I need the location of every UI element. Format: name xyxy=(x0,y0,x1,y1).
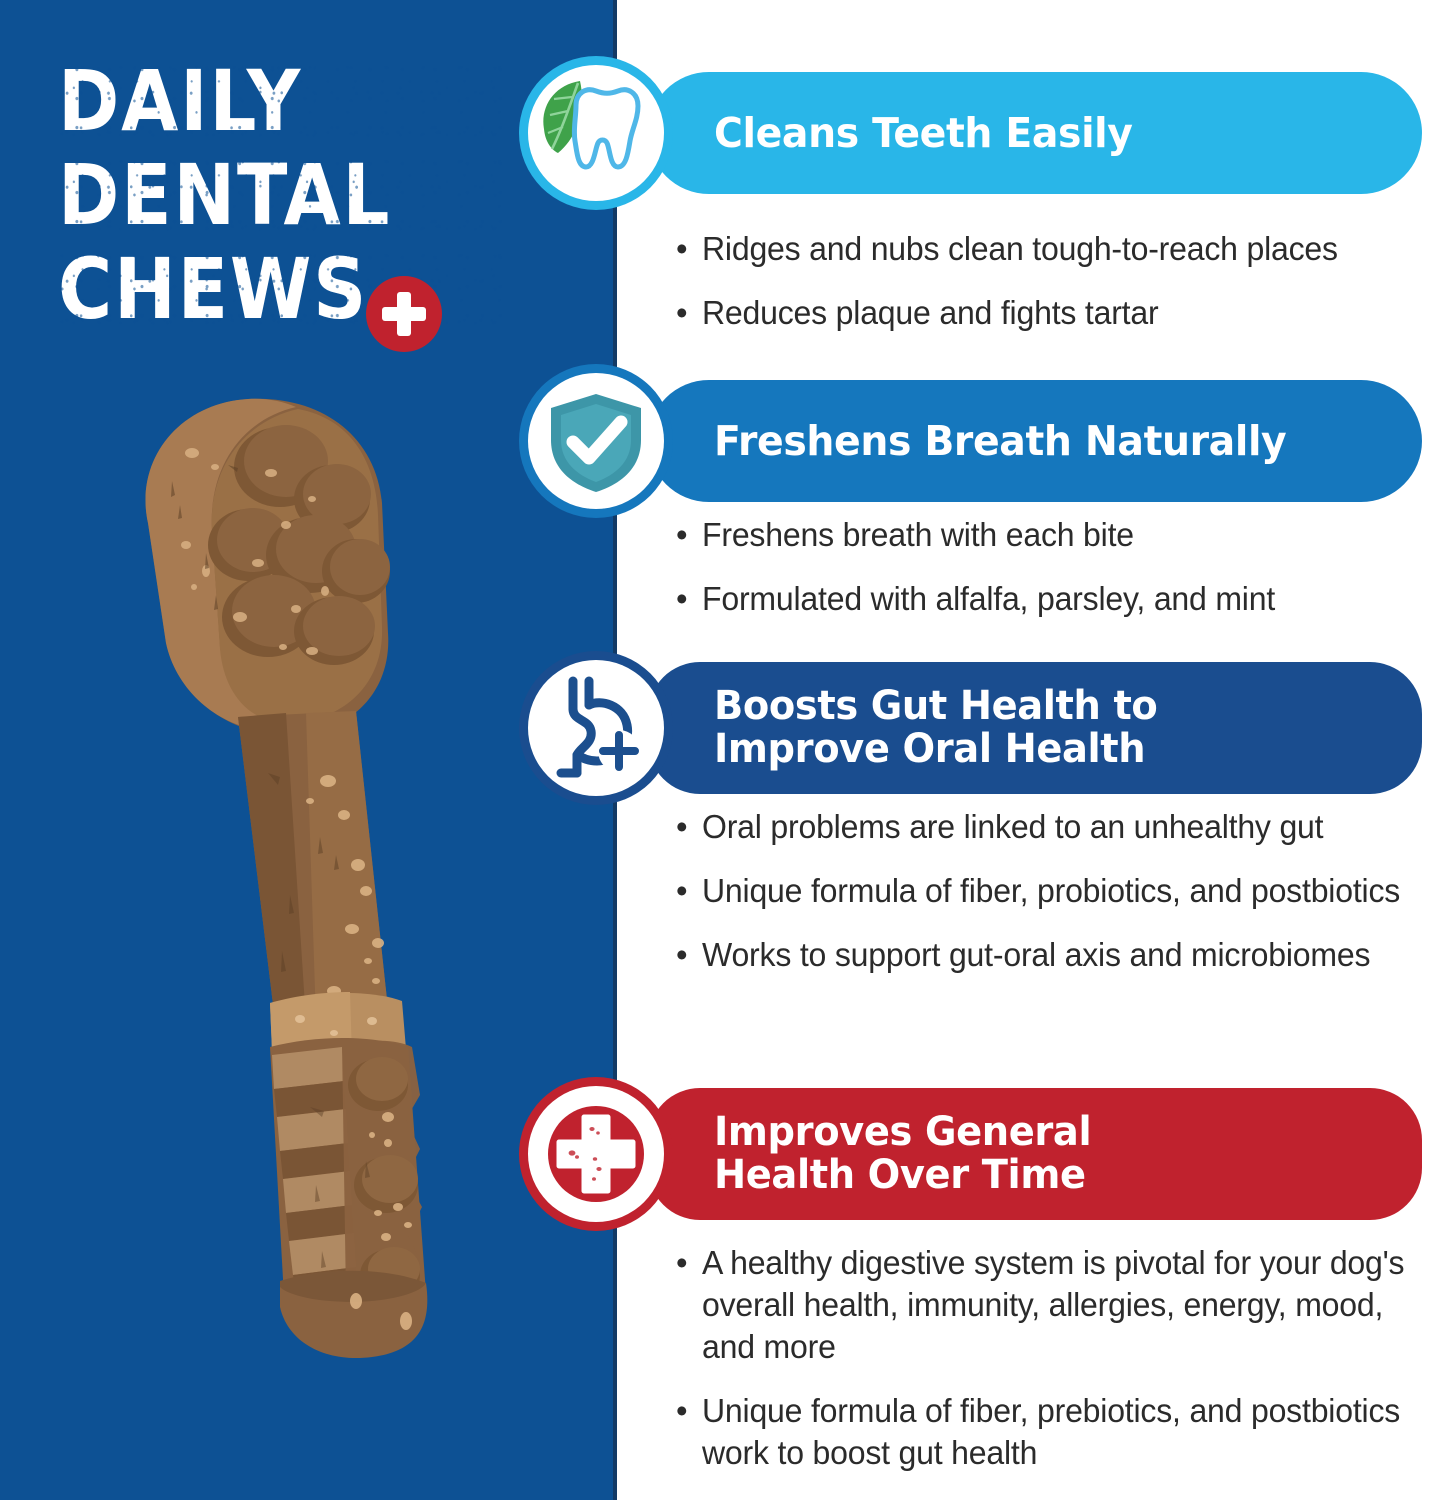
bullet-text: A healthy digestive system is pivotal fo… xyxy=(702,1242,1422,1368)
feature-bullets-gut-health: • Oral problems are linked to an unhealt… xyxy=(676,806,1444,998)
tooth-with-mint-leaf-icon xyxy=(528,65,664,201)
feature-banner-cleans-teeth: Cleans Teeth Easily xyxy=(648,72,1422,194)
feature-banner-general-health: Improves General Health Over Time xyxy=(648,1088,1422,1220)
tooth-icon xyxy=(574,90,638,167)
feature-title-cleans-teeth: Cleans Teeth Easily xyxy=(714,112,1133,155)
bullet-marker: • xyxy=(676,578,702,620)
bullet-marker: • xyxy=(676,514,702,556)
bullet-item: • Oral problems are linked to an unhealt… xyxy=(676,806,1444,848)
bullet-item: • Unique formula of fiber, prebiotics, a… xyxy=(676,1390,1444,1474)
feature-banner-gut-health: Boosts Gut Health to Improve Oral Health xyxy=(648,662,1422,794)
bullet-text: Formulated with alfalfa, parsley, and mi… xyxy=(702,578,1422,620)
bullet-text: Reduces plaque and fights tartar xyxy=(702,292,1422,334)
feature-banner-freshens-breath: Freshens Breath Naturally xyxy=(648,380,1422,502)
bullet-text: Freshens breath with each bite xyxy=(702,514,1422,556)
feature-bullets-general-health: • A healthy digestive system is pivotal … xyxy=(676,1242,1444,1496)
feature-title-gut-health: Boosts Gut Health to Improve Oral Health xyxy=(714,685,1157,771)
bullet-marker: • xyxy=(676,228,702,270)
feature-title-general-health: Improves General Health Over Time xyxy=(714,1111,1091,1197)
bullet-item: • Works to support gut-oral axis and mic… xyxy=(676,934,1444,976)
bullet-marker: • xyxy=(676,1390,702,1474)
feature-title-freshens-breath: Freshens Breath Naturally xyxy=(714,420,1286,463)
bullet-text: Unique formula of fiber, probiotics, and… xyxy=(702,870,1422,912)
feature-bullets-freshens-breath: • Freshens breath with each bite • Formu… xyxy=(676,514,1444,642)
bullet-marker: • xyxy=(676,806,702,848)
features-column: Cleans Teeth Easily xyxy=(0,0,1444,1500)
bullet-marker: • xyxy=(676,1242,702,1368)
infographic-page: DAILY DENTAL CHEWS xyxy=(0,0,1444,1500)
bullet-item: • Unique formula of fiber, probiotics, a… xyxy=(676,870,1444,912)
shield-check-icon xyxy=(528,373,664,509)
bullet-item: • Formulated with alfalfa, parsley, and … xyxy=(676,578,1444,620)
bullet-item: • Freshens breath with each bite xyxy=(676,514,1444,556)
stomach-plus-icon xyxy=(528,660,664,796)
bullet-text: Oral problems are linked to an unhealthy… xyxy=(702,806,1422,848)
bullet-text: Unique formula of fiber, prebiotics, and… xyxy=(702,1390,1422,1474)
bullet-marker: • xyxy=(676,292,702,334)
bullet-item: • A healthy digestive system is pivotal … xyxy=(676,1242,1444,1368)
medical-cross-circle-icon xyxy=(528,1086,664,1222)
bullet-text: Ridges and nubs clean tough-to-reach pla… xyxy=(702,228,1422,270)
plus-badge-icon xyxy=(598,730,640,772)
bullet-marker: • xyxy=(676,934,702,976)
bullet-marker: • xyxy=(676,870,702,912)
bullet-text: Works to support gut-oral axis and micro… xyxy=(702,934,1422,976)
bullet-item: • Ridges and nubs clean tough-to-reach p… xyxy=(676,228,1444,270)
feature-bullets-cleans-teeth: • Ridges and nubs clean tough-to-reach p… xyxy=(676,228,1444,356)
bullet-item: • Reduces plaque and fights tartar xyxy=(676,292,1444,334)
